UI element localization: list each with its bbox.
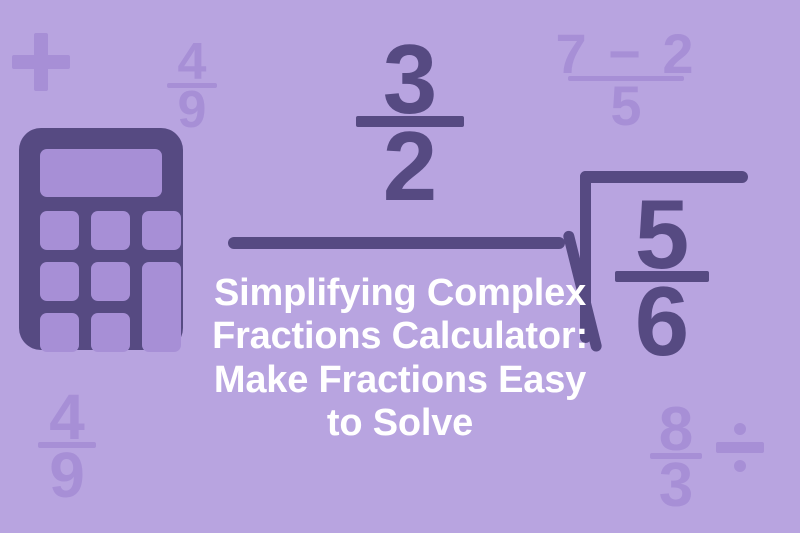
- fraction-seven-minus-two-over-five: 7 − 2 5: [566, 25, 686, 134]
- division-sign-icon: [716, 423, 764, 471]
- plus-vertical-stroke: [34, 33, 48, 91]
- calculator-key: [40, 262, 79, 301]
- plus-sign-icon: [12, 33, 70, 91]
- calculator-key: [91, 313, 130, 352]
- fraction-eight-thirds: 8 3: [648, 398, 704, 517]
- main-fraction-bar: [228, 237, 565, 249]
- fraction-denominator: 3: [659, 454, 693, 517]
- division-dot-top: [734, 423, 746, 435]
- calculator-key: [40, 211, 79, 250]
- fraction-four-ninths-top: 4 9: [166, 36, 218, 137]
- headline-line-2: Fractions Calculator:: [150, 315, 650, 358]
- fraction-four-ninths-bottom: 4 9: [36, 385, 98, 509]
- division-bar: [716, 442, 764, 453]
- fraction-three-halves: 3 2: [355, 30, 465, 217]
- headline-line-4: to Solve: [150, 402, 650, 445]
- calculator-key: [142, 211, 181, 250]
- fraction-denominator: 5: [610, 77, 641, 134]
- headline-line-3: Make Fractions Easy: [150, 359, 650, 402]
- fraction-denominator: 9: [49, 443, 85, 508]
- division-dot-bottom: [734, 460, 746, 472]
- fraction-denominator: 2: [383, 117, 438, 217]
- page-title: Simplifying Complex Fractions Calculator…: [150, 272, 650, 445]
- fraction-denominator: 9: [178, 84, 207, 137]
- calculator-key: [91, 211, 130, 250]
- banner: 4 9 7 − 2 5 3 2 5 6 4: [0, 0, 800, 533]
- calculator-key: [40, 313, 79, 352]
- calculator-screen: [40, 149, 162, 197]
- calculator-key: [91, 262, 130, 301]
- headline-line-1: Simplifying Complex: [150, 272, 650, 315]
